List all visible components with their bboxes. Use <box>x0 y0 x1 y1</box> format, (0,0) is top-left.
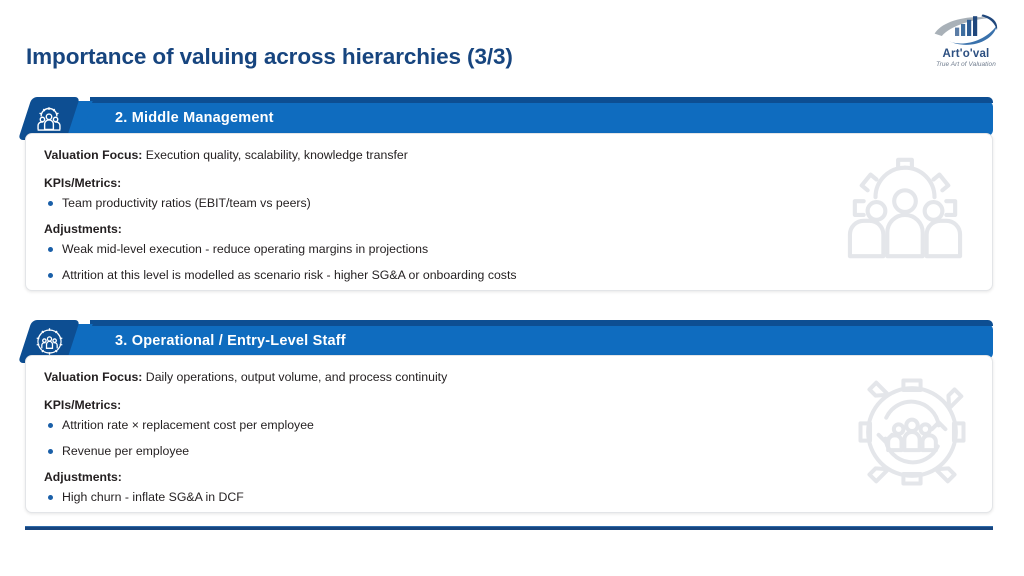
valuation-focus-line: Valuation Focus: Execution quality, scal… <box>44 148 992 163</box>
gear-people-icon <box>34 105 64 133</box>
adjustments-label: Adjustments: <box>44 222 992 236</box>
valuation-focus-text: Execution quality, scalability, knowledg… <box>142 148 407 162</box>
card-body: Valuation Focus: Execution quality, scal… <box>26 134 992 283</box>
kpi-label: KPIs/Metrics: <box>44 398 992 412</box>
bar-chart-swoosh-icon <box>931 12 1003 48</box>
adjustments-list: Weak mid-level execution - reduce operat… <box>44 242 992 283</box>
list-item: Weak mid-level execution - reduce operat… <box>44 242 992 257</box>
gear-group-icon <box>35 327 64 356</box>
kpi-list: Team productivity ratios (EBIT/team vs p… <box>44 196 992 211</box>
section-header-middle-management[interactable]: 2. Middle Management <box>25 101 993 136</box>
logo-tagline: True Art of Valuation <box>918 61 1014 68</box>
card-middle-management: Valuation Focus: Execution quality, scal… <box>25 133 993 291</box>
kpi-list: Attrition rate × replacement cost per em… <box>44 418 992 459</box>
valuation-focus-line: Valuation Focus: Daily operations, outpu… <box>44 370 992 385</box>
section-header-operational[interactable]: 3. Operational / Entry-Level Staff <box>25 324 993 359</box>
kpi-label: KPIs/Metrics: <box>44 176 992 190</box>
logo-name: Art'o'val <box>918 48 1014 60</box>
list-item: Revenue per employee <box>44 444 992 459</box>
footer-divider <box>25 526 993 530</box>
adjustments-list: High churn - inflate SG&A in DCF <box>44 490 992 505</box>
card-body: Valuation Focus: Daily operations, outpu… <box>26 356 992 505</box>
section-title: 3. Operational / Entry-Level Staff <box>115 324 346 359</box>
list-item: Attrition at this level is modelled as s… <box>44 268 992 283</box>
list-item: Attrition rate × replacement cost per em… <box>44 418 992 433</box>
section-title: 2. Middle Management <box>115 101 274 136</box>
list-item: Team productivity ratios (EBIT/team vs p… <box>44 196 992 211</box>
adjustments-label: Adjustments: <box>44 470 992 484</box>
valuation-focus-label: Valuation Focus: <box>44 148 142 162</box>
page-title: Importance of valuing across hierarchies… <box>26 44 513 70</box>
valuation-focus-label: Valuation Focus: <box>44 370 142 384</box>
valuation-focus-text: Daily operations, output volume, and pro… <box>142 370 447 384</box>
card-operational: Valuation Focus: Daily operations, outpu… <box>25 355 993 513</box>
list-item: High churn - inflate SG&A in DCF <box>44 490 992 505</box>
logo: Art'o'val True Art of Valuation <box>918 12 1014 74</box>
